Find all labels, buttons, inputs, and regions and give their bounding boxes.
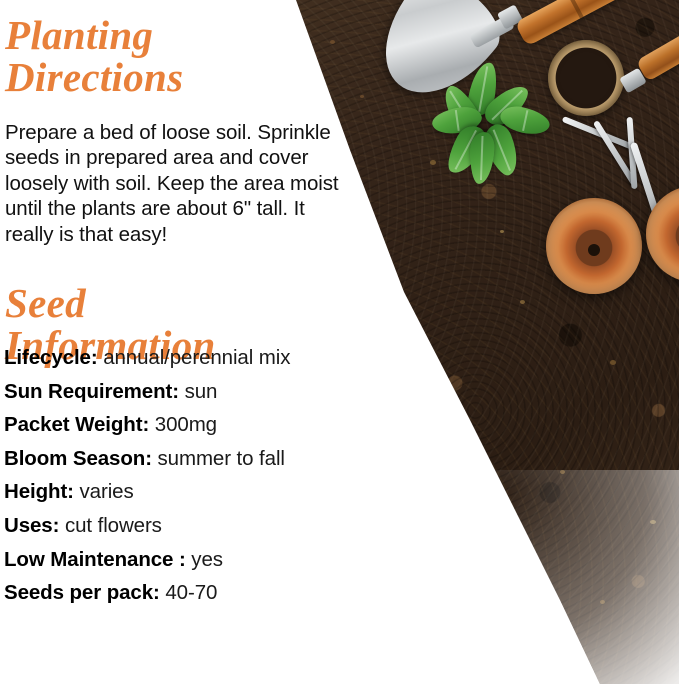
spec-row-seeds-per-pack: Seeds per pack: 40-70: [4, 583, 384, 617]
spec-label: Packet Weight:: [4, 413, 149, 436]
spec-value: annual/perennial mix: [103, 346, 290, 369]
soil-speck: [360, 95, 364, 98]
spec-row-uses: Uses: cut flowers: [4, 516, 384, 550]
soil-speck: [500, 230, 504, 233]
spec-value: 300mg: [155, 413, 217, 436]
spec-row-bloom-season: Bloom Season: summer to fall: [4, 449, 384, 483]
spec-value: 40-70: [165, 581, 217, 604]
soil-speck: [560, 470, 565, 474]
soil-speck: [650, 520, 656, 524]
soil-speck: [610, 360, 616, 365]
spec-label: Uses:: [4, 514, 59, 537]
planting-directions-body: Prepare a bed of loose soil. Sprinkle se…: [5, 120, 353, 247]
spec-row-sun-requirement: Sun Requirement: sun: [4, 382, 384, 416]
spec-value: varies: [80, 480, 134, 503]
spec-value: cut flowers: [65, 514, 162, 537]
spec-row-height: Height: varies: [4, 482, 384, 516]
seed-information-list: Lifecycle: annual/perennial mix Sun Requ…: [4, 348, 384, 617]
soil-speck: [430, 160, 436, 165]
spec-value: yes: [191, 548, 223, 571]
pot-drainage-hole: [588, 244, 600, 256]
seed-packet-info-card: Planting Directions Prepare a bed of loo…: [0, 0, 679, 684]
spec-row-packet-weight: Packet Weight: 300mg: [4, 415, 384, 449]
spec-label: Height:: [4, 480, 74, 503]
spec-row-lifecycle: Lifecycle: annual/perennial mix: [4, 348, 384, 382]
soil-speck: [330, 40, 335, 44]
spec-label: Low Maintenance :: [4, 548, 186, 571]
terracotta-pot-icon: [546, 198, 642, 294]
spec-label: Sun Requirement:: [4, 380, 179, 403]
peat-pot-icon: [548, 40, 624, 116]
spec-row-low-maintenance: Low Maintenance : yes: [4, 550, 384, 584]
spec-value: sun: [185, 380, 218, 403]
spec-label: Lifecycle:: [4, 346, 98, 369]
spec-label: Bloom Season:: [4, 447, 152, 470]
soil-speck: [520, 300, 525, 304]
spec-value: summer to fall: [158, 447, 285, 470]
planting-directions-title: Planting Directions: [5, 14, 295, 98]
soil-speck: [600, 600, 605, 604]
spec-label: Seeds per pack:: [4, 581, 160, 604]
